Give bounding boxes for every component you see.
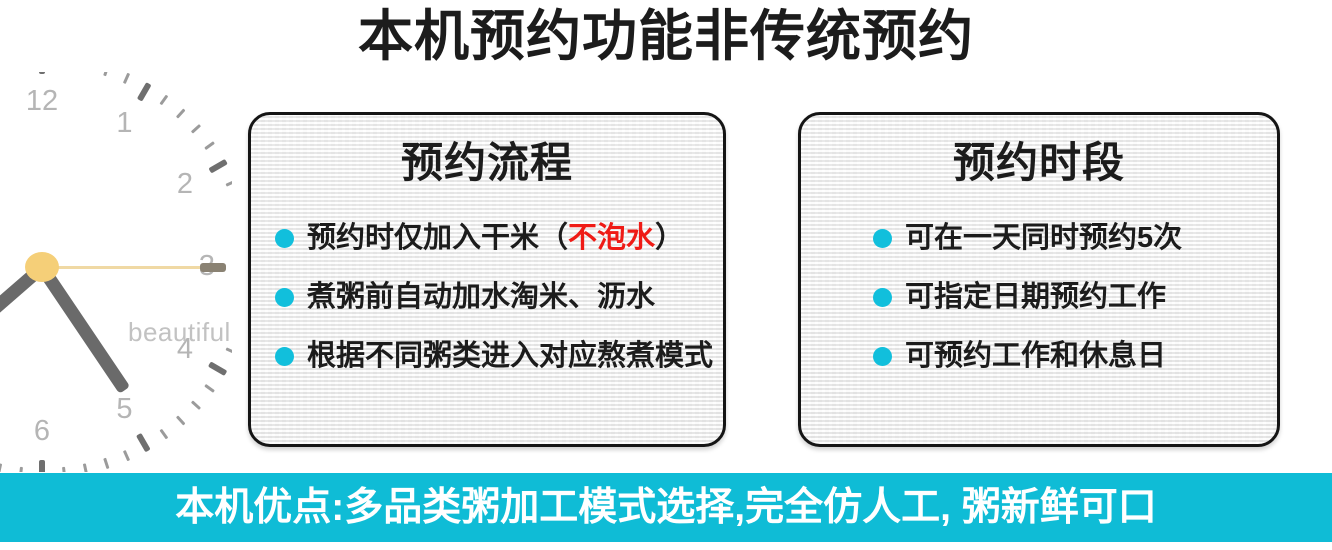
clock-numeral-2: 2 [162,170,208,199]
clock-numeral-1: 1 [102,109,148,138]
bullet-text: 可在一天同时预约5次 [905,219,1182,257]
clock-numeral-5: 5 [102,395,148,424]
bullet-dot-icon [275,288,294,307]
card-title-process: 预约流程 [251,137,723,189]
list-item: 煮粥前自动加水淘米、沥水 [251,278,723,316]
bullet-list-process: 预约时仅加入干米（不泡水） 煮粥前自动加水淘米、沥水 根据不同粥类进入对应熬煮模… [251,219,723,396]
clock-numeral-12: 12 [19,87,65,116]
clock-illustration: 12123456 beautiful [0,72,232,472]
bullet-dot-icon [275,229,294,248]
card-reservation-process: 预约流程 预约时仅加入干米（不泡水） 煮粥前自动加水淘米、沥水 根据不同粥类进入… [248,112,726,447]
clock-face: 12123456 [0,72,232,472]
banner-text: 本机优点:多品类粥加工模式选择,完全仿人工, 粥新鲜可口 [0,485,1332,531]
bullet-dot-icon [873,347,892,366]
bullet-text-highlight: 不泡水 [568,222,655,254]
clock-numeral-6: 6 [19,417,65,446]
list-item: 可预约工作和休息日 [801,337,1277,375]
list-item: 根据不同粥类进入对应熬煮模式 [251,337,723,375]
clock-center-hub [25,252,59,282]
bullet-list-schedule: 可在一天同时预约5次 可指定日期预约工作 可预约工作和休息日 [801,219,1277,396]
bullet-text: 煮粥前自动加水淘米、沥水 [307,278,655,316]
bullet-dot-icon [873,229,892,248]
bullet-text: 可预约工作和休息日 [905,337,1166,375]
bottom-banner: 本机优点:多品类粥加工模式选择,完全仿人工, 粥新鲜可口 [0,473,1332,542]
bullet-text: 根据不同粥类进入对应熬煮模式 [307,337,713,375]
clock-second-hand [42,266,220,269]
bullet-text: 可指定日期预约工作 [905,278,1166,316]
bullet-text-suffix: ） [655,222,684,254]
list-item: 可在一天同时预约5次 [801,219,1277,257]
bullet-dot-icon [873,288,892,307]
bullet-dot-icon [275,347,294,366]
list-item: 可指定日期预约工作 [801,278,1277,316]
list-item: 预约时仅加入干米（不泡水） [251,219,723,257]
bullet-text-plain: 预约时仅加入干米（ [307,222,568,254]
page-title: 本机预约功能非传统预约 [0,2,1332,70]
bullet-text: 预约时仅加入干米（不泡水） [307,219,684,257]
card-reservation-schedule: 预约时段 可在一天同时预约5次 可指定日期预约工作 可预约工作和休息日 [798,112,1280,447]
card-title-schedule: 预约时段 [801,137,1277,189]
clock-brand-word: beautiful [128,317,231,348]
